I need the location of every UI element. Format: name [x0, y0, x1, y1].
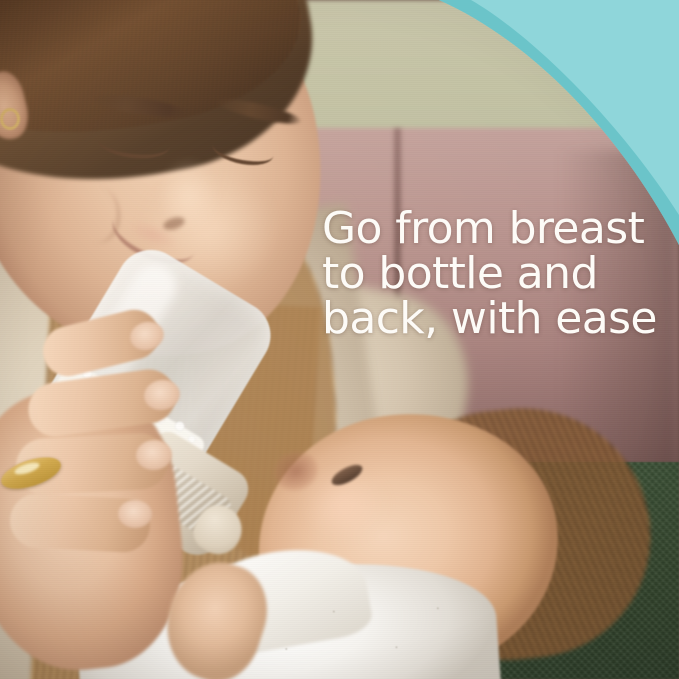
page-title: Go from breast to bottle and back, with … — [322, 206, 652, 341]
headline-line-2: to bottle and — [322, 251, 652, 296]
mother-hand — [0, 300, 270, 679]
earring — [0, 108, 20, 130]
headline-line-1: Go from breast — [322, 206, 652, 251]
headline-line-3: back, with ease — [322, 296, 652, 341]
product-lifestyle-image: Go from breast to bottle and back, with … — [0, 0, 679, 679]
